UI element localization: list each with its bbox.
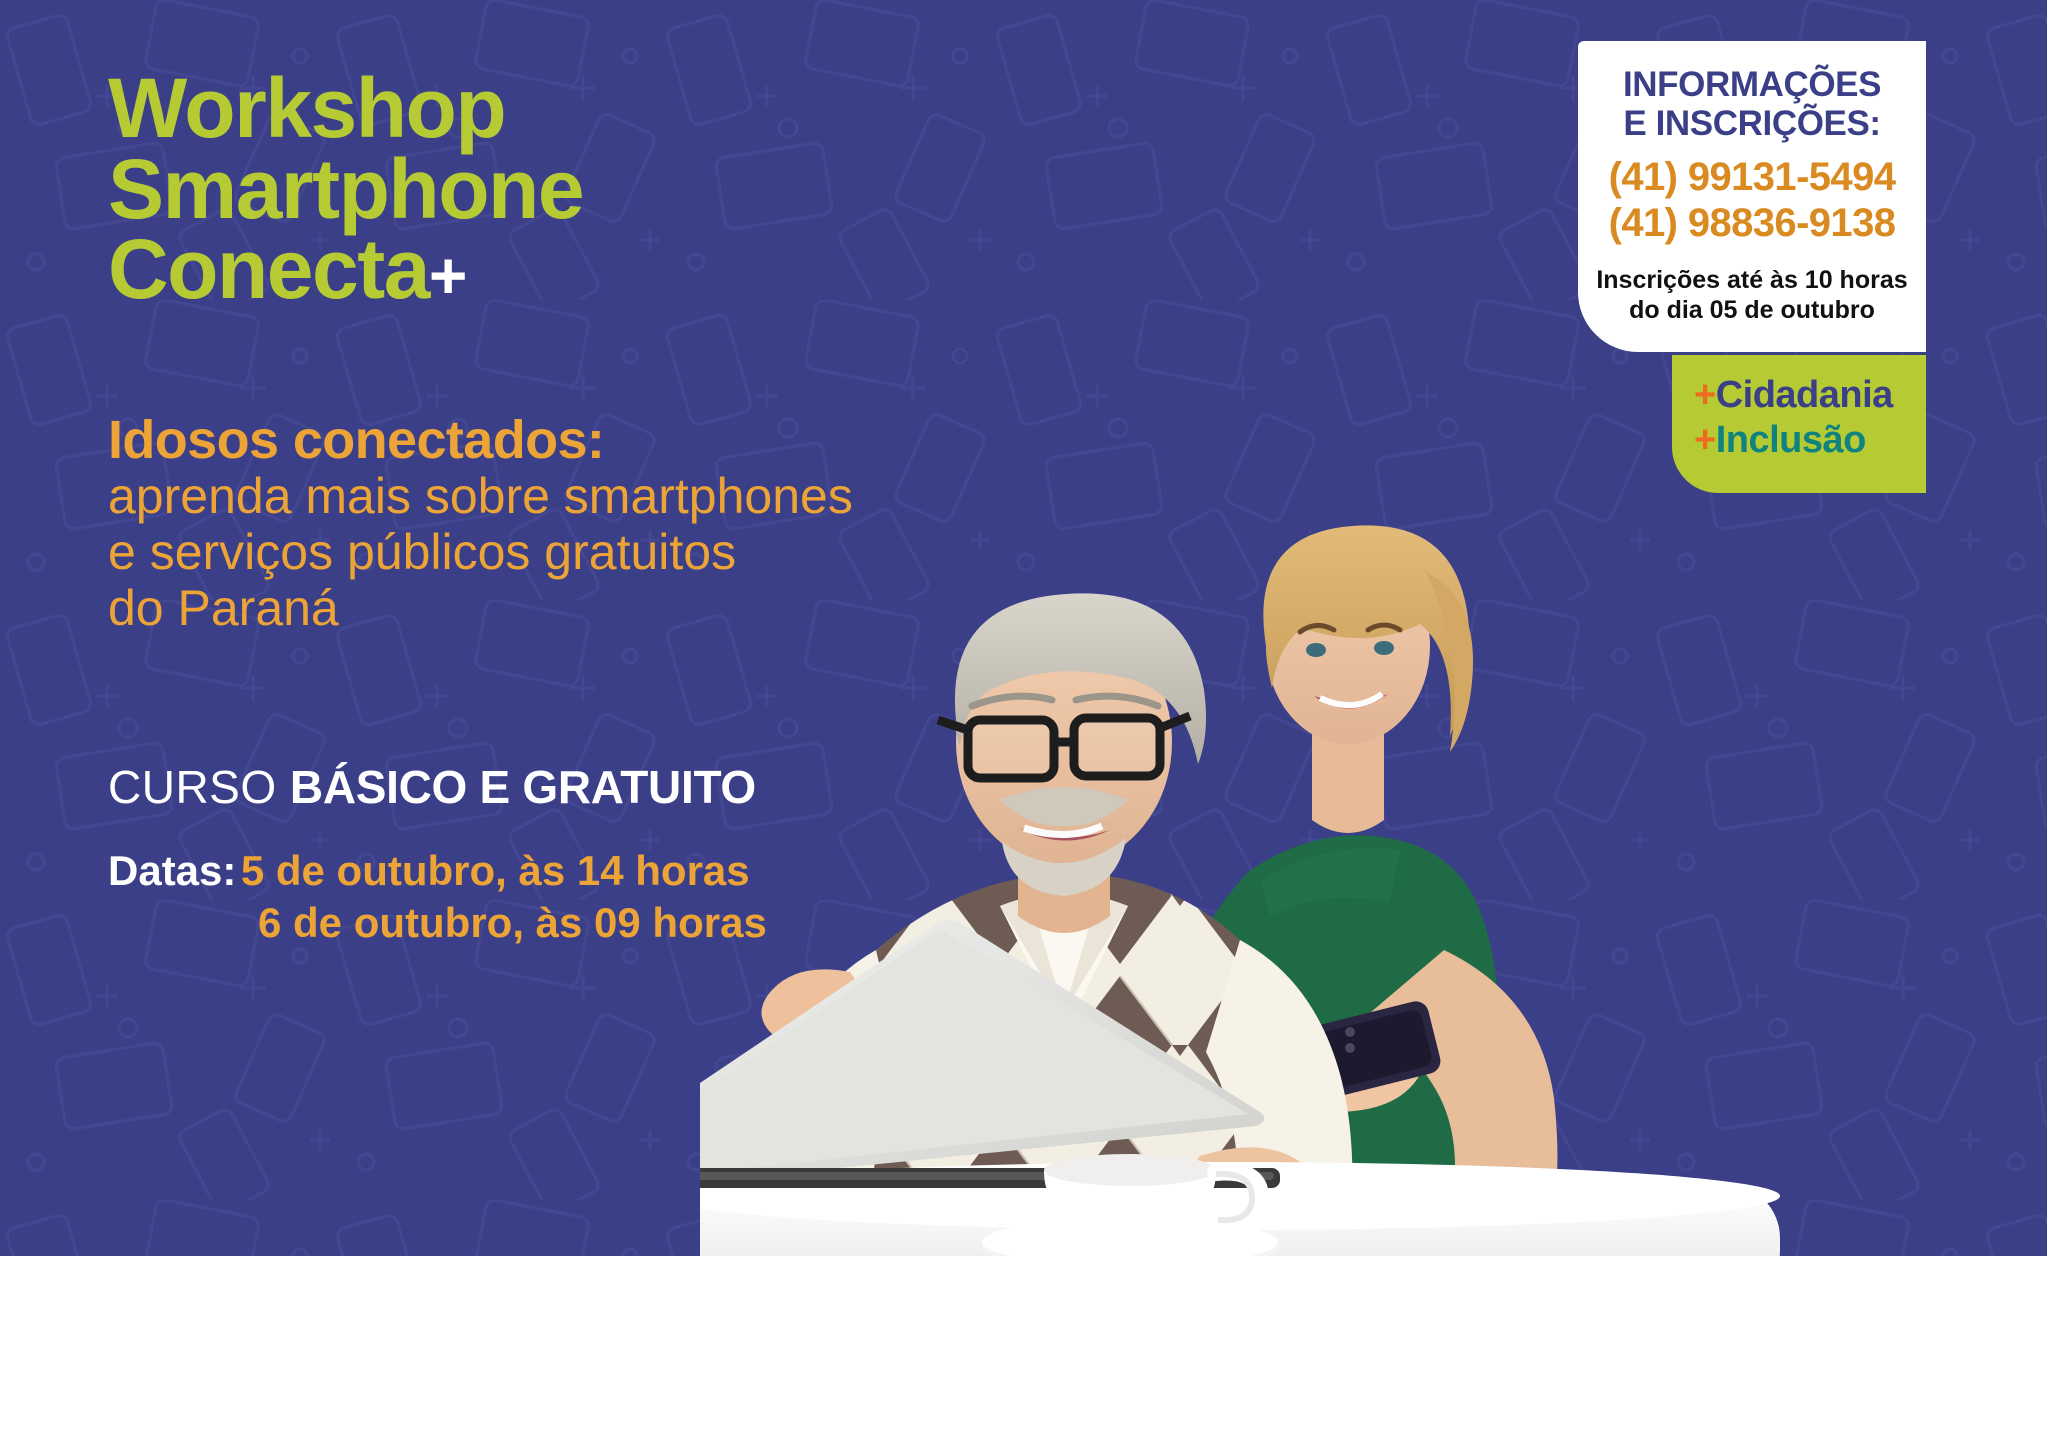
dates-value-2: 6 de outubro, às 09 horas — [258, 899, 767, 946]
badge-row-cidadania: +Cidadania — [1694, 373, 1926, 418]
badge-plus-icon-2: + — [1694, 419, 1716, 461]
badge-label-cidadania: Cidadania — [1716, 374, 1893, 416]
info-card-title-line-2: E INSCRIÇÕES: — [1578, 104, 1926, 143]
program-badge: +Cidadania +Inclusão — [1672, 355, 1926, 493]
badge-plus-icon-1: + — [1694, 374, 1716, 416]
dates-label: Datas: — [108, 847, 236, 894]
promo-banner: Workshop Smartphone Conecta+ Idosos cone… — [0, 0, 2047, 1256]
course-type-label: CURSO BÁSICO E GRATUITO — [108, 760, 756, 814]
couple-illustration — [700, 520, 2026, 1256]
subtitle-line-1: aprenda mais sobre smartphones — [108, 468, 1008, 524]
info-card-title-line-1: INFORMAÇÕES — [1578, 65, 1926, 104]
deadline-note-line-1: Inscrições até às 10 horas — [1578, 265, 1926, 295]
dates-block: Datas: 5 de outubro, às 14 horas 6 de ou… — [108, 845, 767, 949]
badge-row-inclusao: +Inclusão — [1694, 418, 1926, 463]
registration-info-card: INFORMAÇÕES E INSCRIÇÕES: (41) 99131-549… — [1578, 41, 1926, 352]
headline-line-2: Smartphone — [108, 149, 1008, 230]
deadline-note-line-2: do dia 05 de outubro — [1578, 295, 1926, 325]
headline-line-1: Workshop — [108, 68, 1008, 149]
headline-line-3: Conecta+ — [108, 229, 1008, 310]
photo-elderly-couple — [700, 520, 2026, 1256]
dates-row-2: 6 de outubro, às 09 horas — [108, 897, 767, 949]
phone-number-1[interactable]: (41) 99131-5494 — [1578, 155, 1926, 201]
dates-value-1: 5 de outubro, às 14 horas — [241, 847, 750, 894]
course-prefix: CURSO — [108, 761, 290, 813]
headline-plus-icon: + — [429, 238, 466, 312]
headline-word-conecta: Conecta — [108, 222, 429, 316]
phone-number-2[interactable]: (41) 98836-9138 — [1578, 201, 1926, 247]
course-emphasis: BÁSICO E GRATUITO — [290, 761, 756, 813]
page-title: Workshop Smartphone Conecta+ — [108, 68, 1008, 310]
badge-label-inclusao: Inclusão — [1716, 419, 1866, 461]
dates-row-1: Datas: 5 de outubro, às 14 horas — [108, 845, 767, 897]
subtitle-heading: Idosos conectados: — [108, 413, 1008, 468]
